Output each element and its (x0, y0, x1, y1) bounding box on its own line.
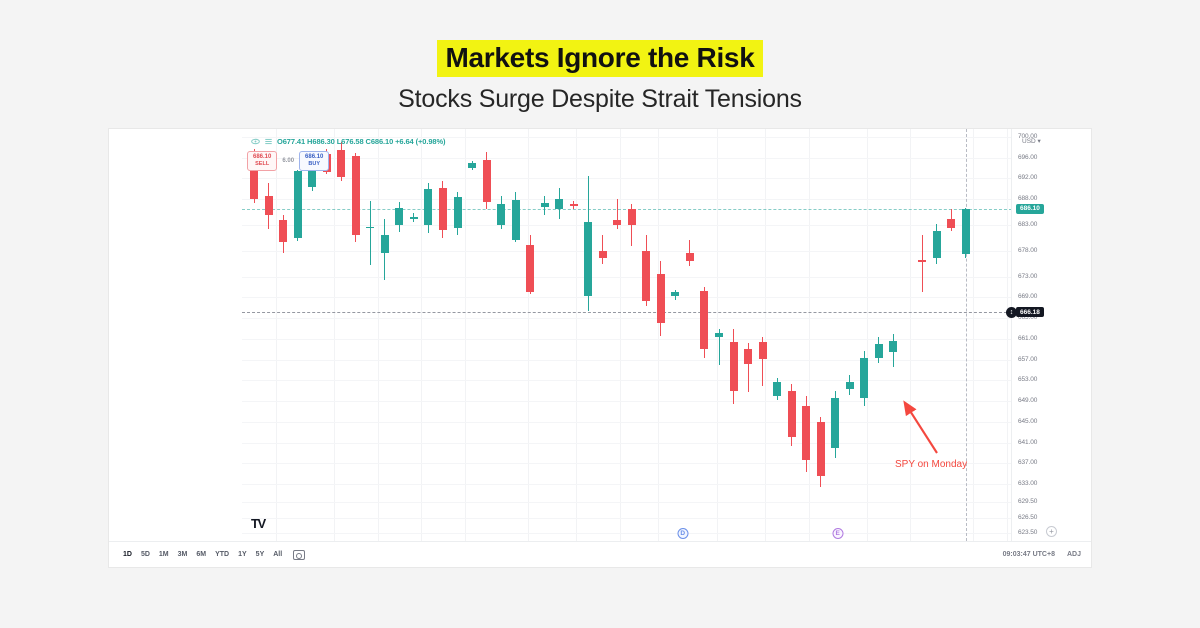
candle-body (337, 150, 345, 177)
candle-body (570, 204, 578, 206)
camera-icon[interactable] (293, 550, 305, 560)
timeframe-5d[interactable]: 5D (137, 549, 154, 560)
buy-price: 686.10 (305, 154, 323, 161)
price-axis-tick: 700.00 (1018, 133, 1037, 140)
price-axis-tick: 688.00 (1018, 195, 1037, 202)
ohlc-values: O677.41 H686.30 L676.58 C686.10 +6.64 (+… (277, 137, 445, 146)
candlestick (265, 129, 273, 541)
candlestick (555, 129, 563, 541)
tradingview-logo: TV (251, 516, 265, 531)
price-axis-tick: 649.00 (1018, 397, 1037, 404)
candle-body (555, 199, 563, 209)
sell-label: SELL (253, 161, 271, 167)
candle-body (875, 344, 883, 357)
candlestick (933, 129, 941, 541)
price-axis-tick: 657.00 (1018, 356, 1037, 363)
candlestick (715, 129, 723, 541)
candle-body (759, 342, 767, 359)
chevron-down-icon: ▾ (1038, 138, 1041, 145)
candlestick (802, 129, 810, 541)
candlestick (860, 129, 868, 541)
spread-value: 6.00 (282, 158, 294, 164)
candle-body (730, 342, 738, 391)
candle-body (686, 253, 694, 261)
candle-body (918, 260, 926, 262)
candlestick (657, 129, 665, 541)
price-axis-tick: 678.00 (1018, 247, 1037, 254)
last-price-badge: 686.10 (1016, 204, 1044, 214)
candle-body (628, 209, 636, 225)
order-buttons: 686.10 SELL 6.00 686.10 BUY (247, 151, 329, 171)
timeframe-1d[interactable]: 1D (119, 549, 136, 560)
event-marker-dividend[interactable]: D (677, 528, 688, 539)
candle-wick (602, 235, 603, 264)
candle-body (846, 382, 854, 388)
grid-line-vertical (973, 129, 974, 541)
page-subtitle: Stocks Surge Despite Strait Tensions (0, 85, 1200, 114)
price-axis-tick: 683.00 (1018, 221, 1037, 228)
candle-body (541, 203, 549, 207)
candle-body (671, 292, 679, 296)
candlestick (454, 129, 462, 541)
candlestick (671, 129, 679, 541)
candle-body (599, 251, 607, 258)
candle-body (424, 189, 432, 225)
price-axis-tick: 623.50 (1018, 529, 1037, 536)
candlestick (700, 129, 708, 541)
buy-label: BUY (305, 161, 323, 167)
candlestick (279, 129, 287, 541)
candlestick (773, 129, 781, 541)
chart-plot-area[interactable] (242, 129, 1012, 541)
candle-body (657, 274, 665, 324)
grid-line-vertical (421, 129, 422, 541)
candle-body (831, 398, 839, 448)
price-axis-tick: 669.00 (1018, 293, 1037, 300)
candlestick (599, 129, 607, 541)
candle-body (265, 196, 273, 215)
candle-body (860, 358, 868, 398)
grid-line-vertical (910, 129, 911, 541)
candle-body (381, 235, 389, 253)
candlestick (352, 129, 360, 541)
candlestick (323, 129, 331, 541)
sell-button[interactable]: 686.10 SELL (247, 151, 277, 171)
candlestick (962, 129, 970, 541)
scale-drag-handle[interactable]: ↕ (1006, 307, 1017, 318)
candlestick (512, 129, 520, 541)
candle-wick (922, 235, 923, 292)
price-axis-tick: 641.00 (1018, 439, 1037, 446)
timeframe-all[interactable]: All (269, 549, 286, 560)
timeframe-6m[interactable]: 6M (192, 549, 210, 560)
candle-body (352, 156, 360, 235)
candlestick (642, 129, 650, 541)
annotation-arrow-icon (889, 397, 949, 459)
grid-line-vertical (465, 129, 466, 541)
candlestick (613, 129, 621, 541)
bottom-toolbar: 1D5D1M3M6MYTD1Y5YAll 09:03:47 UTC+8 ADJ (109, 541, 1091, 567)
crosshair-price-badge: 666.18 (1016, 307, 1044, 317)
candle-body (468, 163, 476, 168)
timeframe-ytd[interactable]: YTD (211, 549, 233, 560)
grid-line-vertical (1007, 129, 1008, 541)
adjustment-label[interactable]: ADJ (1067, 551, 1081, 558)
timeframe-1y[interactable]: 1Y (234, 549, 251, 560)
candlestick (483, 129, 491, 541)
headline-block: Markets Ignore the Risk (0, 40, 1200, 77)
candle-body (395, 208, 403, 225)
candlestick (381, 129, 389, 541)
price-axis-tick: 633.00 (1018, 480, 1037, 487)
candle-body (410, 217, 418, 219)
candlestick (294, 129, 302, 541)
candlestick (947, 129, 955, 541)
candlestick (410, 129, 418, 541)
candle-body (366, 227, 374, 229)
candle-body (933, 231, 941, 258)
candle-body (744, 349, 752, 364)
candle-body (526, 245, 534, 293)
timeframe-3m[interactable]: 3M (174, 549, 192, 560)
clock-label[interactable]: 09:03:47 UTC+8 (1003, 551, 1055, 558)
candle-body (279, 220, 287, 243)
buy-button[interactable]: 686.10 BUY (299, 151, 329, 171)
price-axis-tick: 692.00 (1018, 174, 1037, 181)
price-axis-tick: 696.00 (1018, 154, 1037, 161)
candlestick (570, 129, 578, 541)
candlestick (541, 129, 549, 541)
page-title: Markets Ignore the Risk (437, 40, 764, 77)
price-axis-tick: 645.00 (1018, 418, 1037, 425)
candlestick (918, 129, 926, 541)
toolbar-status: 09:03:47 UTC+8 ADJ (1003, 551, 1081, 558)
candlestick (526, 129, 534, 541)
price-axis-tick: 661.00 (1018, 335, 1037, 342)
timeframe-1m[interactable]: 1M (155, 549, 173, 560)
page-root: Markets Ignore the Risk Stocks Surge Des… (0, 0, 1200, 628)
candlestick (759, 129, 767, 541)
candle-body (512, 200, 520, 240)
candle-body (947, 219, 955, 228)
candlestick (395, 129, 403, 541)
candlestick (468, 129, 476, 541)
candle-body (889, 341, 897, 352)
candlestick (308, 129, 316, 541)
settings-gear-icon[interactable] (264, 137, 273, 146)
candlestick (831, 129, 839, 541)
price-axis-tick: 626.50 (1018, 514, 1037, 521)
candle-body (497, 204, 505, 225)
candlestick (817, 129, 825, 541)
candle-body (700, 291, 708, 349)
candlestick (424, 129, 432, 541)
candle-body (294, 171, 302, 238)
candle-body (802, 406, 810, 460)
timeframe-group: 1D5D1M3M6MYTD1Y5YAll (119, 549, 287, 560)
price-axis[interactable]: USD ▾ + 700.00696.00692.00688.00683.0067… (1011, 129, 1091, 541)
candle-body (788, 391, 796, 438)
ohlc-legend: O677.41 H686.30 L676.58 C686.10 +6.64 (+… (251, 137, 445, 146)
candle-body (817, 422, 825, 476)
event-marker-earnings[interactable]: E (832, 528, 843, 539)
candlestick (628, 129, 636, 541)
candle-body (483, 160, 491, 202)
candle-body (454, 197, 462, 228)
candlestick (788, 129, 796, 541)
tradingview-chart-card: O677.41 H686.30 L676.58 C686.10 +6.64 (+… (108, 128, 1092, 568)
candlestick (337, 129, 345, 541)
grid-line-vertical (334, 129, 335, 541)
candlestick (497, 129, 505, 541)
price-axis-tick: 673.00 (1018, 273, 1037, 280)
candle-body (773, 382, 781, 395)
candle-body (584, 222, 592, 297)
candlestick (889, 129, 897, 541)
candlestick (686, 129, 694, 541)
candlestick (846, 129, 854, 541)
candle-body (962, 209, 970, 254)
timeframe-5y[interactable]: 5Y (252, 549, 269, 560)
grid-line-vertical (378, 129, 379, 541)
candlestick (875, 129, 883, 541)
candle-body (642, 251, 650, 301)
candlestick (744, 129, 752, 541)
candlestick (366, 129, 374, 541)
add-indicator-button[interactable]: + (1046, 526, 1057, 537)
sell-price: 686.10 (253, 154, 271, 161)
annotation-label: SPY on Monday (895, 459, 967, 470)
candle-body (715, 333, 723, 337)
candle-body (613, 220, 621, 225)
candlestick (439, 129, 447, 541)
candle-wick (370, 201, 371, 265)
grid-line-vertical (276, 129, 277, 541)
price-axis-tick: 653.00 (1018, 376, 1037, 383)
price-axis-tick: 637.00 (1018, 459, 1037, 466)
candle-body (439, 188, 447, 230)
price-axis-tick: 629.50 (1018, 498, 1037, 505)
candlestick (730, 129, 738, 541)
candlestick (250, 129, 258, 541)
candlestick (584, 129, 592, 541)
visibility-eye-icon[interactable] (251, 137, 260, 146)
